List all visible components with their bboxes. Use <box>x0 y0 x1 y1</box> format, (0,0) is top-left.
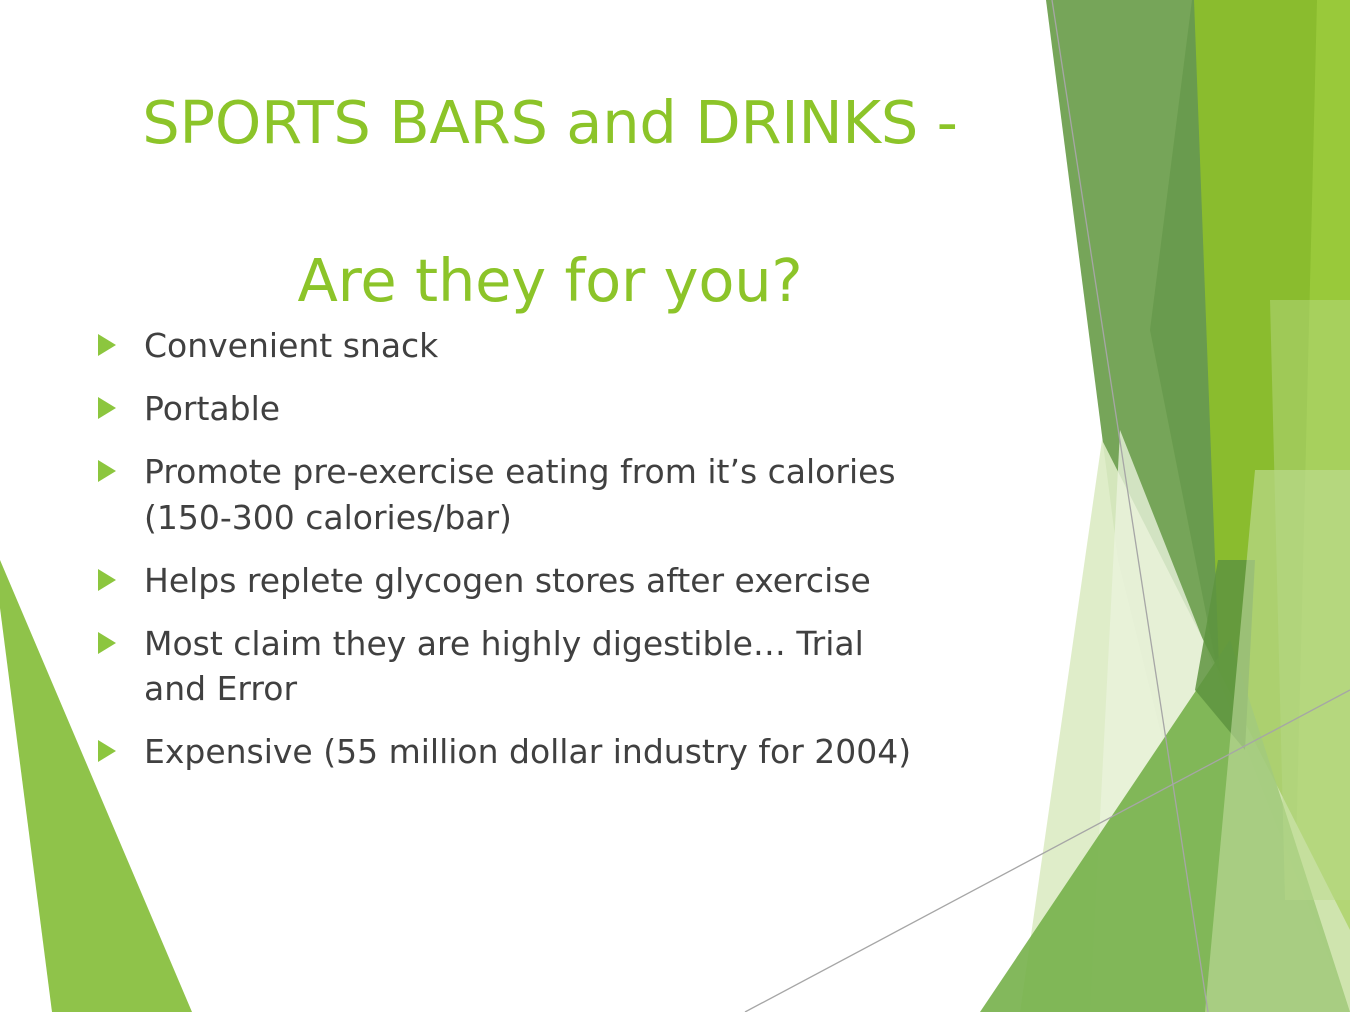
list-item-label: Promote pre-exercise eating from it’s ca… <box>144 449 934 539</box>
list-item-label: Convenient snack <box>144 323 934 368</box>
triangle-right-icon <box>98 386 144 419</box>
list-item: Expensive (55 million dollar industry fo… <box>98 729 1038 774</box>
slide-title: SPORTS BARS and DRINKS - Are they for yo… <box>70 92 1030 312</box>
presentation-slide: SPORTS BARS and DRINKS - Are they for yo… <box>0 0 1350 1012</box>
decor-shape-pale-triangle <box>1020 440 1350 1012</box>
list-item-label: Portable <box>144 386 934 431</box>
decor-shape-soft-wedge <box>1270 300 1350 900</box>
title-line-2: Are they for you? <box>70 250 1030 313</box>
decor-shape-sage-band <box>1046 0 1350 1012</box>
list-item: Convenient snack <box>98 323 1038 368</box>
triangle-right-icon <box>98 621 144 654</box>
decor-shape-yellowgreen-column <box>1194 0 1350 1012</box>
list-item: Helps replete glycogen stores after exer… <box>98 558 1038 603</box>
decor-shape-translucent-overlay <box>1205 470 1350 1012</box>
triangle-right-icon <box>98 449 144 482</box>
title-line-1: SPORTS BARS and DRINKS - <box>70 92 1030 155</box>
triangle-right-icon <box>98 558 144 591</box>
decor-shape-dark-notch <box>1195 560 1255 750</box>
decor-shape-lime-strip <box>1292 0 1350 1012</box>
list-item-label: Helps replete glycogen stores after exer… <box>144 558 934 603</box>
decor-hairline-steep <box>1052 0 1208 1012</box>
triangle-right-icon <box>98 323 144 356</box>
list-item: Promote pre-exercise eating from it’s ca… <box>98 449 1038 539</box>
decor-shape-very-pale-triangle <box>1090 430 1350 1012</box>
triangle-right-icon <box>98 729 144 762</box>
title-spacer <box>70 155 1030 250</box>
list-item-label: Expensive (55 million dollar industry fo… <box>144 729 934 774</box>
decor-shape-dark-sage-column <box>1150 0 1350 760</box>
list-item: Portable <box>98 386 1038 431</box>
list-item: Most claim they are highly digestible… T… <box>98 621 1038 711</box>
list-item-label: Most claim they are highly digestible… T… <box>144 621 934 711</box>
bullet-list: Convenient snack Portable Promote pre-ex… <box>98 323 1038 793</box>
